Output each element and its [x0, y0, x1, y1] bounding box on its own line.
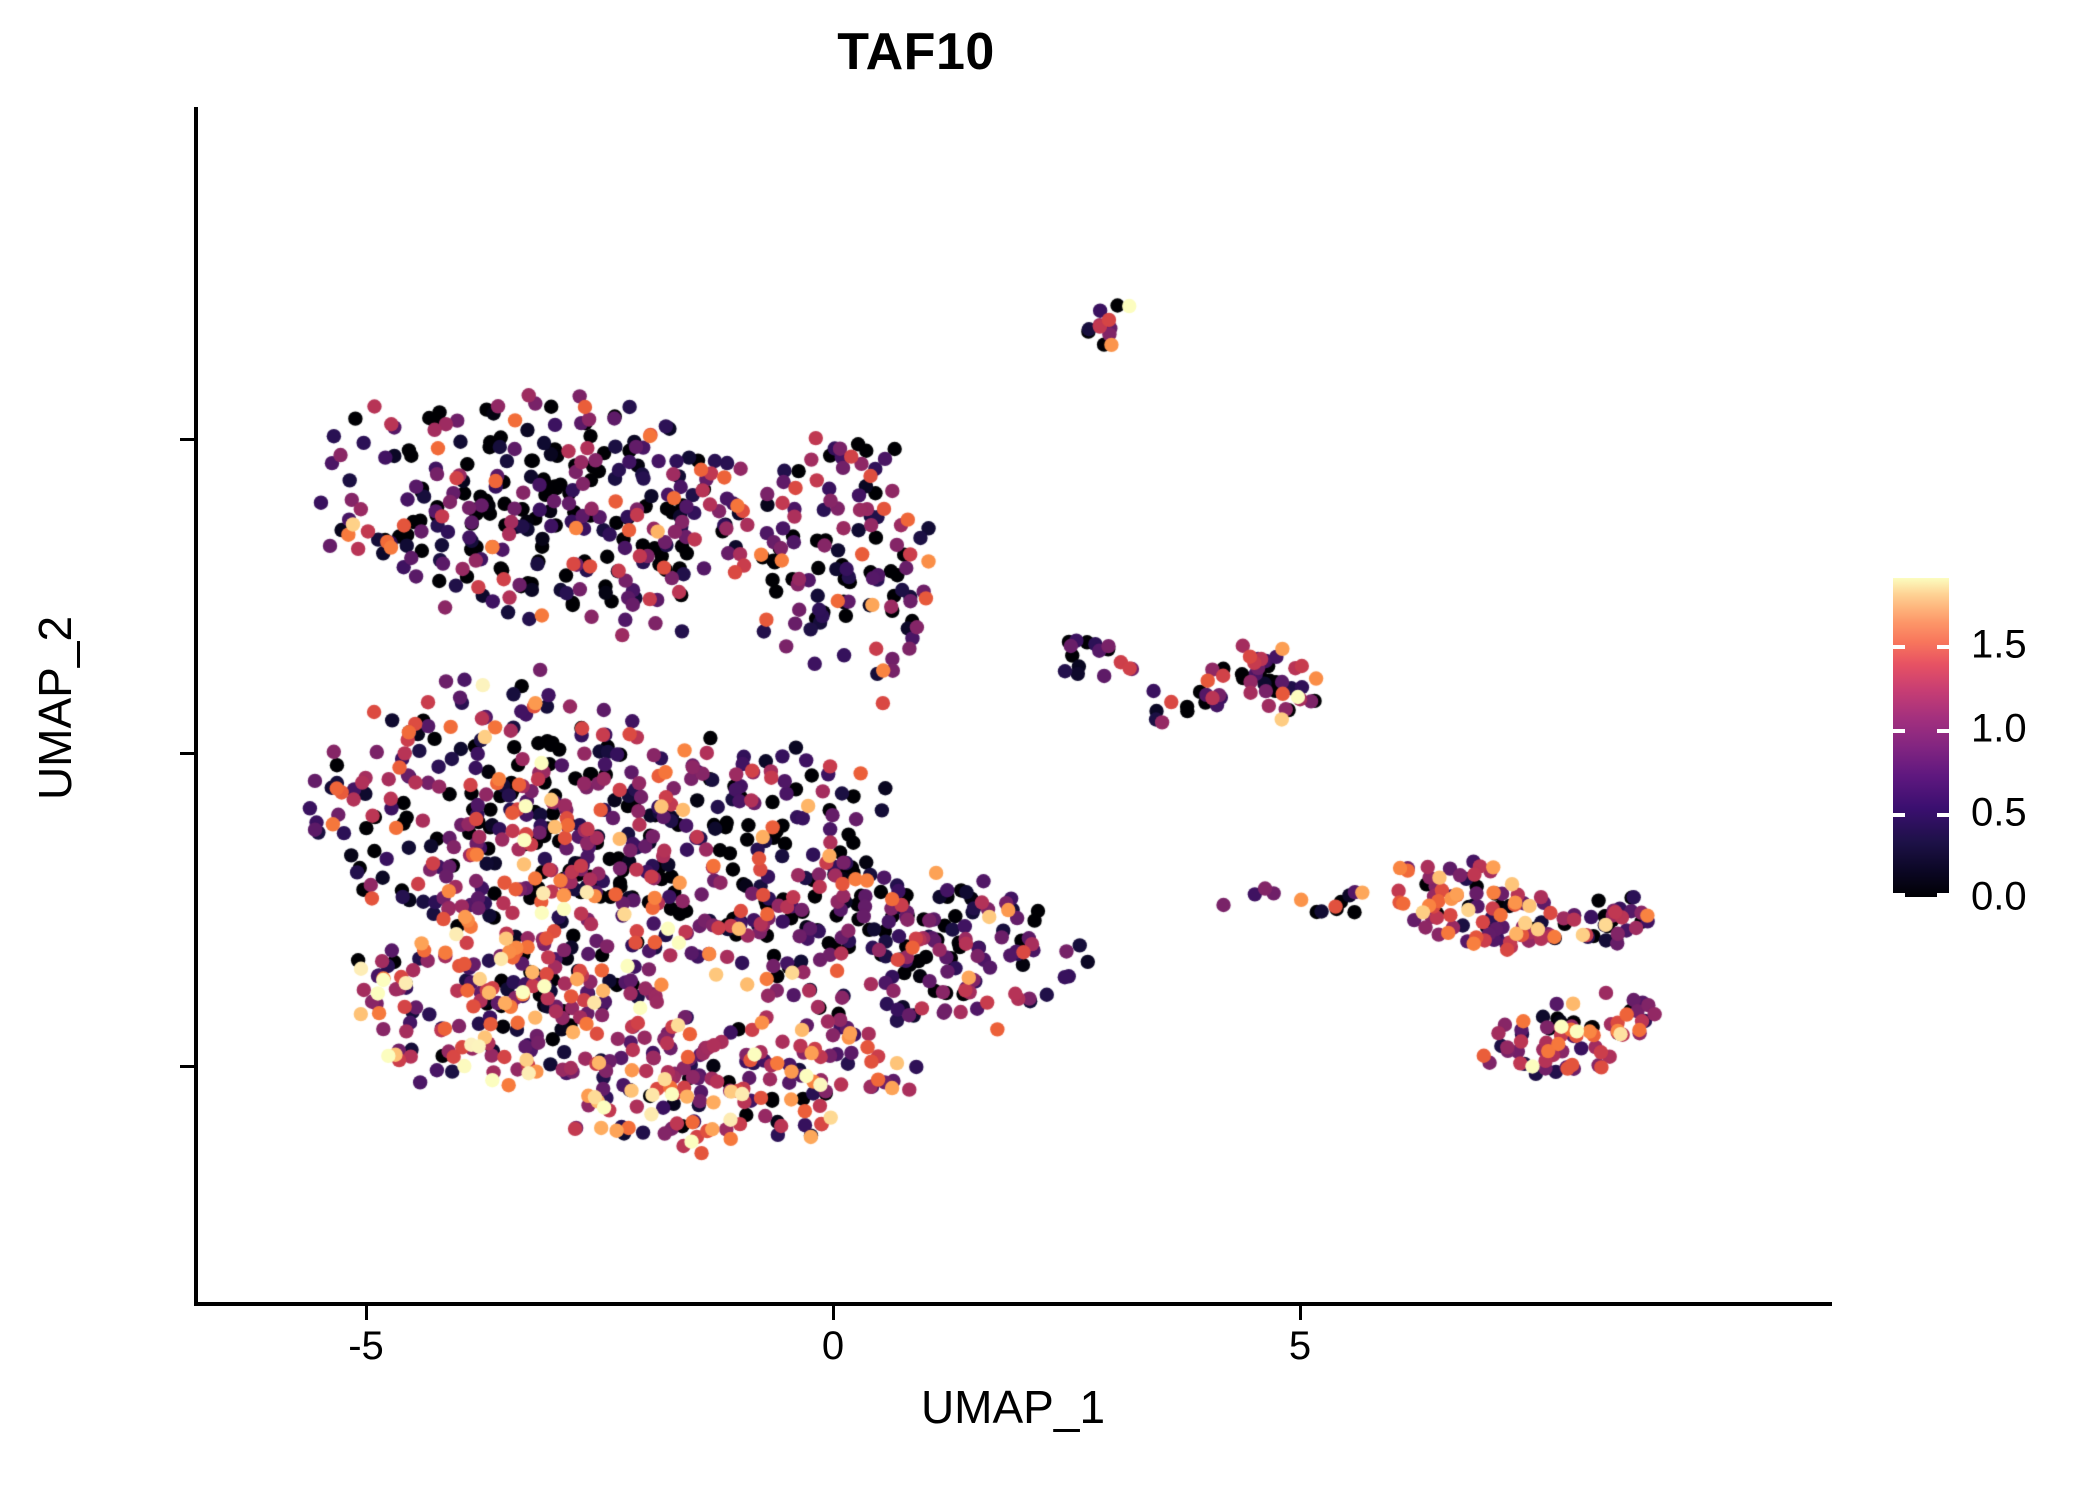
umap-feature-plot: TAF10 -505 40-4 UMAP_1 UMAP_2 1.51.00.50… [0, 0, 2100, 1500]
colorbar-tick-label: 1.0 [1971, 707, 2027, 752]
x-axis-title: UMAP_1 [194, 1380, 1832, 1434]
colorbar-tick-label: 0.5 [1971, 791, 2027, 836]
scatter-plot-canvas [0, 0, 2100, 1500]
colorbar-tick-mark [1893, 813, 1905, 817]
colorbar-tick-mark [1893, 729, 1905, 733]
colorbar-tick-mark [1893, 893, 1905, 897]
colorbar-tick-mark [1937, 645, 1949, 649]
y-axis-line [194, 107, 198, 1305]
colorbar-tick-label: 1.5 [1971, 623, 2027, 668]
x-tick-mark [832, 1306, 835, 1320]
y-tick-mark [180, 1065, 194, 1068]
colorbar-tick-mark [1937, 813, 1949, 817]
x-tick-label: 5 [1289, 1324, 1311, 1369]
x-tick-mark [365, 1306, 368, 1320]
y-axis-title: UMAP_2 [28, 388, 82, 1028]
x-tick-label: 0 [822, 1324, 844, 1369]
x-axis-line [194, 1302, 1832, 1306]
y-tick-mark [180, 752, 194, 755]
x-tick-mark [1299, 1306, 1302, 1320]
colorbar-tick-label: 0.0 [1971, 875, 2027, 920]
colorbar-tick-mark [1937, 729, 1949, 733]
colorbar-tick-mark [1893, 645, 1905, 649]
colorbar-tick-mark [1937, 893, 1949, 897]
y-tick-mark [180, 438, 194, 441]
x-tick-label: -5 [348, 1324, 384, 1369]
colorbar-gradient [1893, 578, 1949, 897]
